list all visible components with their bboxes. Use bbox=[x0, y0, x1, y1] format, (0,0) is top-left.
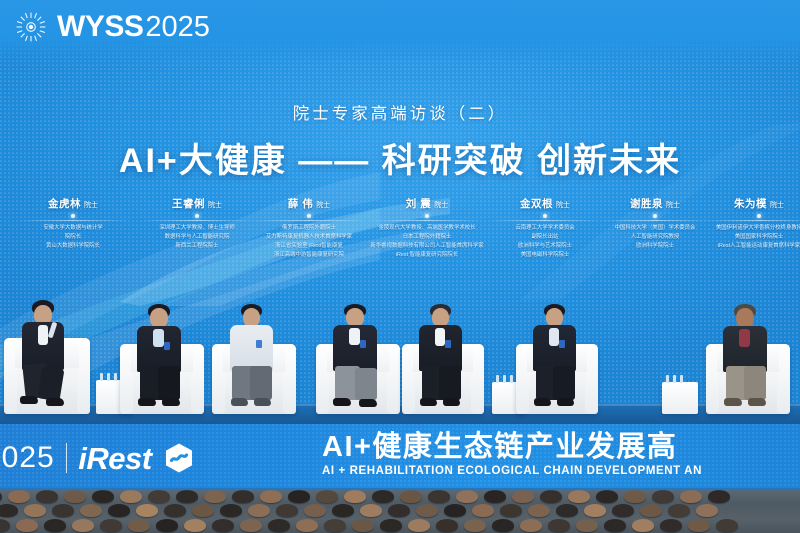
session-headline: AI+大健康 —— 科研突破 创新未来 bbox=[0, 133, 800, 182]
water-bottles bbox=[100, 373, 117, 381]
panelist-card: 王睿俐院士 深圳理工大学教授、博士生导师 数据科学与人工智能研究院 新西兰工程院… bbox=[138, 196, 256, 251]
person-shirt bbox=[549, 328, 559, 346]
panelist-name: 金虎林院士 bbox=[14, 196, 132, 211]
water-bottles bbox=[496, 375, 513, 383]
panelist-affiliation-line: 俄罗斯工程院外籍院士 bbox=[250, 224, 368, 233]
panelist-name-strip: 金虎林院士 安徽大学大数据与统计学 院院长 黄山大数据科学院院长 王睿俐院士 深… bbox=[0, 196, 800, 288]
person-figure bbox=[408, 302, 476, 414]
panelist-card: 朱为模院士 美国伊利诺伊大学香槟分校终身教授 美国国家科学院院士 iRest人工… bbox=[700, 196, 800, 251]
panelist-affiliation-line: 日本工程院外籍院士 bbox=[368, 233, 486, 242]
name-badge bbox=[256, 340, 262, 348]
person-shoe bbox=[138, 398, 156, 406]
audience-row bbox=[0, 490, 800, 503]
panelist-affiliation-line: 副院长出站 bbox=[486, 233, 604, 242]
water-bottles bbox=[666, 375, 683, 383]
audience-foreground bbox=[0, 488, 800, 533]
panelist-affiliation-line: 美国电磁科学院院士 bbox=[486, 251, 604, 260]
person-shoe bbox=[534, 398, 551, 406]
panelist-dot bbox=[71, 214, 75, 218]
person-shoe bbox=[46, 398, 64, 406]
panelist-dot bbox=[653, 214, 657, 218]
panelist-dot bbox=[307, 214, 311, 218]
panelist-affiliation-line: 院院长 bbox=[14, 233, 132, 242]
panelist-affiliation-line: 中国科技大学（美国）学术委员会 bbox=[596, 224, 714, 233]
audience-row bbox=[0, 504, 800, 517]
panelist-affiliation-line: 数据科学与人工智能研究院 bbox=[138, 233, 256, 242]
person-leg bbox=[355, 368, 377, 400]
session-subtitle: 院士专家高端访谈（二） bbox=[0, 100, 800, 124]
banner-title-en: AI + REHABILITATION ECOLOGICAL CHAIN DEV… bbox=[322, 465, 702, 479]
person-shoe bbox=[231, 398, 248, 406]
seated-panelists-row bbox=[0, 282, 800, 428]
person-shoe bbox=[724, 398, 742, 406]
panelist-card: 刘 震院士 金陵现代大学教授、高端医学教学术校长 日本工程院外籍院士 新华睿视数… bbox=[368, 196, 486, 260]
person-shirt bbox=[739, 329, 750, 347]
panelist-rule bbox=[140, 220, 254, 221]
person-shoe bbox=[254, 398, 271, 406]
banner-divider bbox=[66, 443, 68, 473]
banner-title-block: AI+健康生态链产业发展高 AI + REHABILITATION ECOLOG… bbox=[322, 432, 702, 479]
person-figure bbox=[712, 302, 782, 414]
panelist-affiliation-line: 安徽大学大数据与统计学 bbox=[14, 224, 132, 233]
person-shoe bbox=[359, 399, 377, 407]
panelist-affiliation-line: 新华睿视数据科技有限公司人工智能首席科学家 bbox=[368, 242, 486, 251]
panelist-rule bbox=[370, 220, 484, 221]
panelist-name: 薛 伟院士 bbox=[250, 196, 368, 211]
panelist-affiliation-line: 美国伊利诺伊大学香槟分校终身教授 bbox=[700, 224, 800, 233]
panelist-rule bbox=[16, 220, 130, 221]
panelist-affiliation-line: iRest 智能康复研究院院长 bbox=[368, 251, 486, 260]
person-leg bbox=[553, 366, 575, 400]
person-shoe bbox=[20, 396, 38, 404]
logo-year-text: 2025 bbox=[145, 13, 210, 42]
wyss-sunburst-icon bbox=[14, 10, 48, 44]
panelist-card: 金虎林院士 安徽大学大数据与统计学 院院长 黄山大数据科学院院长 bbox=[14, 196, 132, 251]
banner-year: 2025 bbox=[0, 443, 55, 473]
person-shirt bbox=[38, 325, 48, 345]
person-shirt bbox=[349, 328, 360, 345]
person-shirt bbox=[435, 328, 445, 346]
panelist-name: 刘 震院士 bbox=[368, 196, 486, 211]
person-shoe bbox=[333, 398, 351, 406]
panelist-dot bbox=[425, 214, 429, 218]
person-shoe bbox=[557, 398, 574, 406]
name-badge bbox=[559, 340, 565, 348]
panelist-name: 金双根院士 bbox=[486, 196, 604, 211]
panelist-rule bbox=[252, 220, 366, 221]
person-figure bbox=[126, 302, 196, 414]
name-badge bbox=[164, 342, 170, 350]
panelist-dot bbox=[543, 214, 547, 218]
panelist-affiliation-line: 人工智能研究院教授 bbox=[596, 233, 714, 242]
person-torso bbox=[230, 325, 273, 371]
person-shoe bbox=[443, 398, 460, 406]
person-leg bbox=[250, 366, 272, 400]
person-shoe bbox=[162, 398, 180, 406]
person-figure bbox=[10, 298, 82, 414]
person-shoe bbox=[420, 398, 437, 406]
person-figure bbox=[218, 302, 288, 414]
side-table bbox=[662, 382, 698, 414]
banner-brand-text: iRest bbox=[78, 443, 151, 474]
person-leg bbox=[744, 366, 766, 400]
panelist-affiliation-line: 黄山大数据科学院院长 bbox=[14, 242, 132, 251]
logo-brand-text: WYSS bbox=[57, 12, 143, 42]
panelist-affiliation-line: 深圳理工大学教授、博士生导师 bbox=[138, 224, 256, 233]
banner-brand-lockup: 2025 iRest bbox=[0, 442, 195, 474]
panelist-affiliation-line: 浙江高端中游智能康复研究院 bbox=[250, 251, 368, 260]
panelist-affiliation-line: 欧洲科学与艺术院院士 bbox=[486, 242, 604, 251]
wyss-logo: WYSS 2025 bbox=[14, 10, 210, 44]
person-leg bbox=[38, 366, 65, 401]
person-leg bbox=[158, 366, 180, 400]
person-shirt bbox=[153, 329, 164, 347]
panelist-name: 王睿俐院士 bbox=[138, 196, 256, 211]
panelist-dot bbox=[195, 214, 199, 218]
panelist-dot bbox=[757, 214, 761, 218]
panelist-rule bbox=[598, 220, 712, 221]
panelist-affiliation-line: 艾力斯特康复机器人技术首席科学家 bbox=[250, 233, 368, 242]
panelist-affiliation-line: iRest人工智能运动康复首席科学家 bbox=[700, 242, 800, 251]
name-badge bbox=[360, 340, 366, 348]
person-figure bbox=[322, 302, 392, 414]
banner-title-cn: AI+健康生态链产业发展高 bbox=[322, 432, 702, 464]
panelist-name: 朱为模院士 bbox=[700, 196, 800, 211]
panelist-affiliation-line: 浙江省实验室 iRest智能康复 bbox=[250, 242, 368, 251]
panelist-affiliation-line: 新西兰工程院院士 bbox=[138, 242, 256, 251]
person-head bbox=[150, 308, 168, 328]
panelist-card: 金双根院士 云南理工大学学术委员会 副院长出站 欧洲科学与艺术院院士 美国电磁科… bbox=[486, 196, 604, 260]
audience-row bbox=[0, 519, 800, 532]
person-head bbox=[736, 308, 754, 328]
conference-stage-photo: WYSS 2025 院士专家高端访谈（二） AI+大健康 —— 科研突破 创新未… bbox=[0, 0, 800, 533]
irest-hex-wave-icon bbox=[163, 442, 195, 474]
panelist-affiliation-line: 云南理工大学学术委员会 bbox=[486, 224, 604, 233]
panelist-affiliation-line: 金陵现代大学教授、高端医学教学术校长 bbox=[368, 224, 486, 233]
panelist-rule bbox=[702, 220, 800, 221]
panelist-affiliation-line: 欧洲科学院院士 bbox=[596, 242, 714, 251]
panelist-card: 薛 伟院士 俄罗斯工程院外籍院士 艾力斯特康复机器人技术首席科学家 浙江省实验室… bbox=[250, 196, 368, 260]
name-badge bbox=[445, 340, 451, 348]
panelist-affiliation-line: 美国国家科学院院士 bbox=[700, 233, 800, 242]
person-leg bbox=[439, 366, 461, 400]
panelist-name: 谢胜泉院士 bbox=[596, 196, 714, 211]
panelist-rule bbox=[488, 220, 602, 221]
bottom-stage-banner: 2025 iRest AI+健康生态链产业发展高 AI + REHABILITA… bbox=[0, 424, 800, 490]
person-shoe bbox=[748, 398, 766, 406]
panelist-card: 谢胜泉院士 中国科技大学（美国）学术委员会 人工智能研究院教授 欧洲科学院院士 bbox=[596, 196, 714, 251]
person-figure bbox=[522, 302, 590, 414]
